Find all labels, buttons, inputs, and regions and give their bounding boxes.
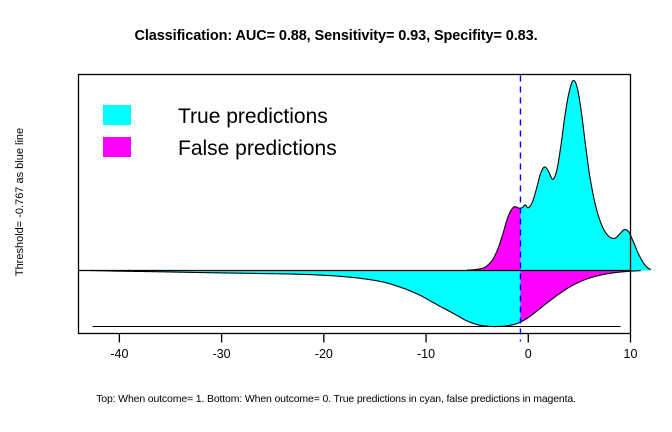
legend-swatch-false	[103, 137, 131, 157]
plot-canvas	[0, 0, 672, 432]
chart-caption: Top: When outcome= 1. Bottom: When outco…	[0, 393, 672, 405]
outcome-0-density-left-fill	[89, 271, 521, 327]
legend-label-true: True predictions	[178, 105, 328, 129]
outcome-1-density-left-fill	[467, 207, 521, 271]
x-axis-tick-label: -40	[110, 347, 128, 361]
x-axis-tick-label: -30	[213, 347, 231, 361]
x-axis-tick-label: -10	[417, 347, 435, 361]
y-axis-label: Threshold= -0.767 as blue line	[14, 87, 26, 317]
density-fills	[89, 80, 651, 326]
x-axis-tick-label: 10	[624, 347, 638, 361]
x-axis-tick-label: 0	[525, 347, 532, 361]
legend-label-false: False predictions	[178, 137, 337, 161]
x-axis-tick-label: -20	[315, 347, 333, 361]
x-axis-ticks	[119, 334, 630, 343]
legend-swatch-true	[103, 105, 131, 125]
chart-title: Classification: AUC= 0.88, Sensitivity= …	[0, 28, 672, 44]
density-plot-figure: Classification: AUC= 0.88, Sensitivity= …	[0, 0, 672, 432]
outcome-0-density-right-fill	[520, 271, 640, 323]
